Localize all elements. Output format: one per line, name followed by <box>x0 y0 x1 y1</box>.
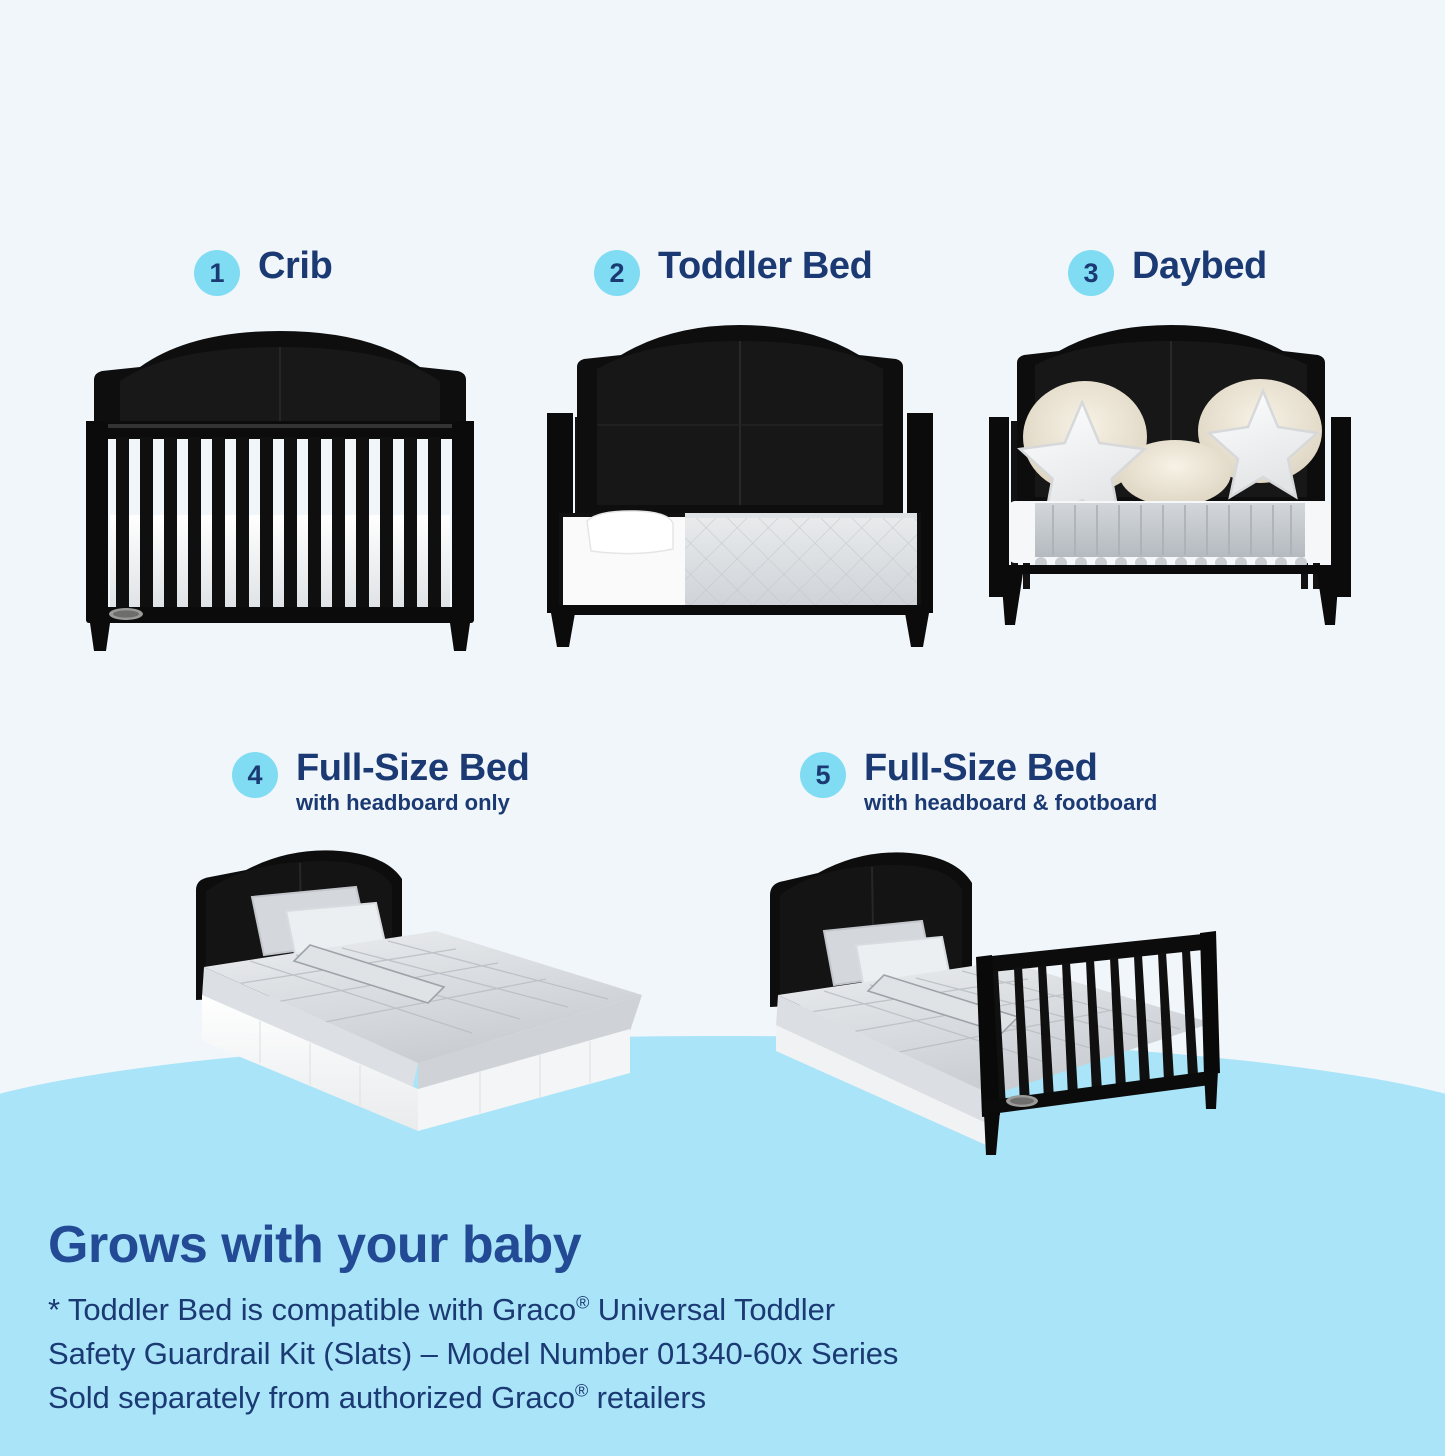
step-badge-1: 1 <box>194 250 240 296</box>
step-subtitle-4: with headboard only <box>296 791 529 815</box>
step-label-1: 1 Crib <box>194 246 332 296</box>
step-label-2: 2 Toddler Bed <box>594 246 872 296</box>
step-label-3: 3 Daybed <box>1068 246 1267 296</box>
pillow <box>587 511 673 554</box>
toddler-bed-illustration <box>535 325 945 655</box>
daybed-illustration <box>975 325 1365 655</box>
step-title-1: Crib <box>258 246 332 286</box>
footer-text-block: Grows with your baby * Toddler Bed is co… <box>48 1219 1148 1420</box>
step-badge-4: 4 <box>232 752 278 798</box>
registered-mark-icon: ® <box>575 1381 588 1401</box>
step-subtitle-5: with headboard & footboard <box>864 791 1157 815</box>
footer-line-2: Safety Guardrail Kit (Slats) – Model Num… <box>48 1332 1148 1376</box>
footer-line-1: * Toddler Bed is compatible with Graco® … <box>48 1288 1148 1332</box>
step-title-3: Daybed <box>1132 246 1267 286</box>
footer-line-1-text: * Toddler Bed is compatible with Graco <box>48 1292 576 1327</box>
step-title-5: Full-Size Bed <box>864 748 1157 788</box>
step-badge-3: 3 <box>1068 250 1114 296</box>
crib-illustration <box>80 325 480 655</box>
step-label-4: 4 Full-Size Bed with headboard only <box>232 748 529 815</box>
step-label-5: 5 Full-Size Bed with headboard & footboa… <box>800 748 1157 815</box>
registered-mark-icon: ® <box>576 1293 589 1313</box>
footer-headline: Grows with your baby <box>48 1219 1148 1272</box>
step-badge-2: 2 <box>594 250 640 296</box>
footer-line-1-tail: Universal Toddler <box>589 1292 835 1327</box>
full-bed-headboard-illustration <box>190 845 670 1155</box>
footer-line-3: Sold separately from authorized Graco® r… <box>48 1376 1148 1420</box>
footer-line-3-text: Sold separately from authorized Graco <box>48 1380 575 1415</box>
infographic-page: 1 Crib <box>0 0 1445 1456</box>
full-bed-headboard-footboard-illustration <box>760 845 1245 1175</box>
footer-line-3-tail: retailers <box>588 1380 706 1415</box>
step-badge-5: 5 <box>800 752 846 798</box>
step-title-2: Toddler Bed <box>658 246 872 286</box>
step-title-4: Full-Size Bed <box>296 748 529 788</box>
